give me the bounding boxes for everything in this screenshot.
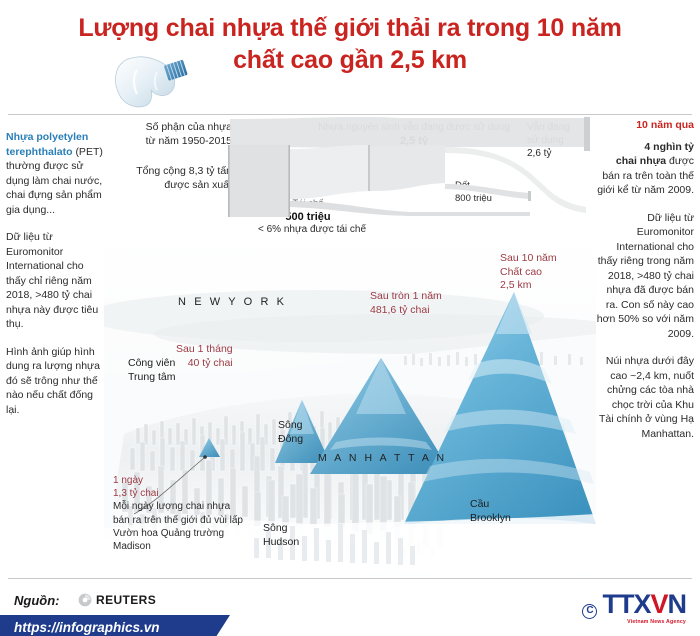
website-url: https://infographics.vn xyxy=(0,620,160,635)
right-bold-line2: chai nhựa xyxy=(616,155,666,167)
plastic-fate-sankey xyxy=(110,117,590,237)
reuters-label: REUTERS xyxy=(96,593,156,607)
title-line-1: Lượng chai nhựa thế giới thải ra trong 1… xyxy=(0,12,700,44)
ttxvn-wordmark: TTXVN Vietnam News Agency xyxy=(602,591,686,625)
map-label-new-york: N E W Y O R K xyxy=(178,296,287,308)
callout-tenyear-line2: Chất cao xyxy=(500,266,557,280)
map-label-brooklyn-bridge: Cầu Brooklyn xyxy=(470,497,511,525)
ttxvn-part3: N xyxy=(668,589,687,619)
east-river-line1: Sông xyxy=(278,418,303,432)
page-title: Lượng chai nhựa thế giới thải ra trong 1… xyxy=(0,12,700,76)
left-para-2: Dữ liệu từ Euromonitor International cho… xyxy=(6,230,104,332)
left-para-3: Hình ảnh giúp hình dung ra lượng nhựa đó… xyxy=(6,345,104,418)
ttxvn-part2: V xyxy=(650,589,667,619)
ttxvn-main-text: TTXVN xyxy=(602,591,686,618)
copyright-icon: C xyxy=(582,604,597,619)
left-text-column: Nhựa polyetylen terephthalato (PET) thườ… xyxy=(6,130,104,430)
central-park-line2: Trung tâm xyxy=(128,370,175,384)
central-park-line1: Công viên xyxy=(128,356,175,370)
callout-month-line1: Sau 1 tháng xyxy=(176,343,233,357)
callout-year-line1: Sau tròn 1 năm xyxy=(370,290,442,304)
ttxvn-tagline: Vietnam News Agency xyxy=(602,619,686,625)
right-para-3: Núi nhựa dưới đây cao ~2,4 km, nuốt chửn… xyxy=(596,354,694,441)
website-url-bar[interactable]: https://infographics.vn xyxy=(0,615,214,636)
callout-day-line2: 1,3 tỷ chai xyxy=(113,487,245,500)
callout-day-line1: 1 ngày xyxy=(113,474,245,487)
right-para-1: 4 nghìn tỷ chai nhựa được bán ra trên to… xyxy=(596,140,694,198)
map-label-manhattan: M A N H A T T A N xyxy=(318,452,447,464)
reuters-logo-icon xyxy=(78,593,92,607)
infographic-page: Lượng chai nhựa thế giới thải ra trong 1… xyxy=(0,0,700,636)
callout-one-month: Sau 1 tháng 40 tỷ chai xyxy=(176,343,233,370)
map-label-hudson-river: Sông Hudson xyxy=(263,521,299,549)
right-bold-line1: 4 nghìn tỷ xyxy=(644,141,694,153)
brooklyn-line1: Cầu xyxy=(470,497,511,511)
footer: Nguồn: REUTERS https://infographics.vn C… xyxy=(0,579,700,636)
callout-ten-years: Sau 10 năm Chất cao 2,5 km xyxy=(500,252,557,293)
callout-tenyear-line1: Sau 10 năm xyxy=(500,252,557,266)
ttxvn-logo: C TTXVN Vietnam News Agency xyxy=(582,591,686,625)
callout-month-line2: 40 tỷ chai xyxy=(176,357,233,371)
callout-one-year: Sau tròn 1 năm 481,6 tỷ chai xyxy=(370,290,442,317)
right-para-2: Dữ liệu từ Euromonitor International cho… xyxy=(596,211,694,342)
right-text-column: 10 năm qua 4 nghìn tỷ chai nhựa được bán… xyxy=(596,118,694,454)
ttxvn-part1: TTX xyxy=(602,589,650,619)
reuters-source: REUTERS xyxy=(78,593,156,607)
callout-tenyear-line3: 2,5 km xyxy=(500,279,557,293)
title-line-2: chất cao gần 2,5 km xyxy=(0,44,700,76)
map-label-east-river: Sông Đông xyxy=(278,418,303,446)
hudson-line2: Hudson xyxy=(263,535,299,549)
left-para-1: Nhựa polyetylen terephthalato (PET) thườ… xyxy=(6,130,104,217)
hudson-line1: Sông xyxy=(263,521,299,535)
right-heading: 10 năm qua xyxy=(596,118,694,133)
source-label: Nguồn: xyxy=(14,593,59,608)
divider-top xyxy=(8,114,692,115)
map-label-central-park: Công viên Trung tâm xyxy=(128,356,175,384)
brooklyn-line2: Brooklyn xyxy=(470,511,511,525)
east-river-line2: Đông xyxy=(278,432,303,446)
callout-year-line2: 481,6 tỷ chai xyxy=(370,304,442,318)
callout-one-day: 1 ngày 1,3 tỷ chai Mỗi ngày lượng chai n… xyxy=(113,474,245,553)
callout-day-body: Mỗi ngày lượng chai nhựa bán ra trên thế… xyxy=(113,500,245,553)
